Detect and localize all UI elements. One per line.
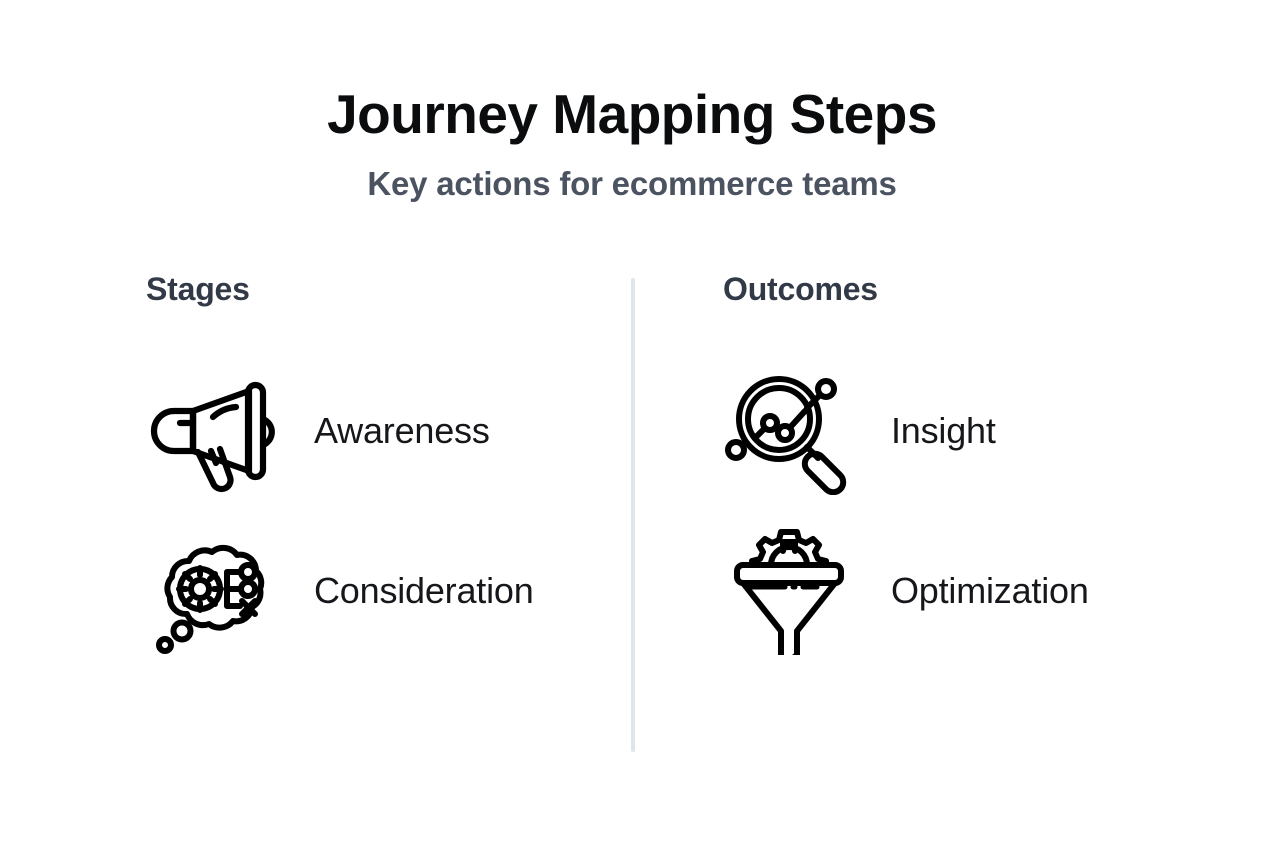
list-item[interactable]: Insight: [723, 351, 1193, 511]
thought-bubble-gear-icon: [146, 525, 278, 657]
funnel-gear-icon: [723, 525, 855, 657]
header: Journey Mapping Steps Key actions for ec…: [0, 86, 1264, 202]
megaphone-icon: [146, 365, 278, 497]
column-divider: [631, 278, 635, 752]
slide-canvas: Journey Mapping Steps Key actions for ec…: [0, 0, 1264, 848]
magnifier-chart-icon: [723, 365, 855, 497]
page-subtitle: Key actions for ecommerce teams: [0, 166, 1264, 202]
columns-container: Stages: [0, 272, 1264, 762]
outcomes-list: Insight: [723, 351, 1193, 671]
column-title-stages: Stages: [146, 272, 616, 307]
column-stages: Stages: [146, 272, 616, 671]
column-title-outcomes: Outcomes: [723, 272, 1193, 307]
list-item[interactable]: Awareness: [146, 351, 616, 511]
list-item-label: Insight: [891, 410, 996, 452]
stages-list: Awareness: [146, 351, 616, 671]
list-item[interactable]: Consideration: [146, 511, 616, 671]
column-outcomes: Outcomes: [723, 272, 1193, 671]
list-item-label: Awareness: [314, 410, 490, 452]
page-title: Journey Mapping Steps: [0, 86, 1264, 144]
list-item[interactable]: Optimization: [723, 511, 1193, 671]
list-item-label: Consideration: [314, 570, 534, 612]
list-item-label: Optimization: [891, 570, 1089, 612]
